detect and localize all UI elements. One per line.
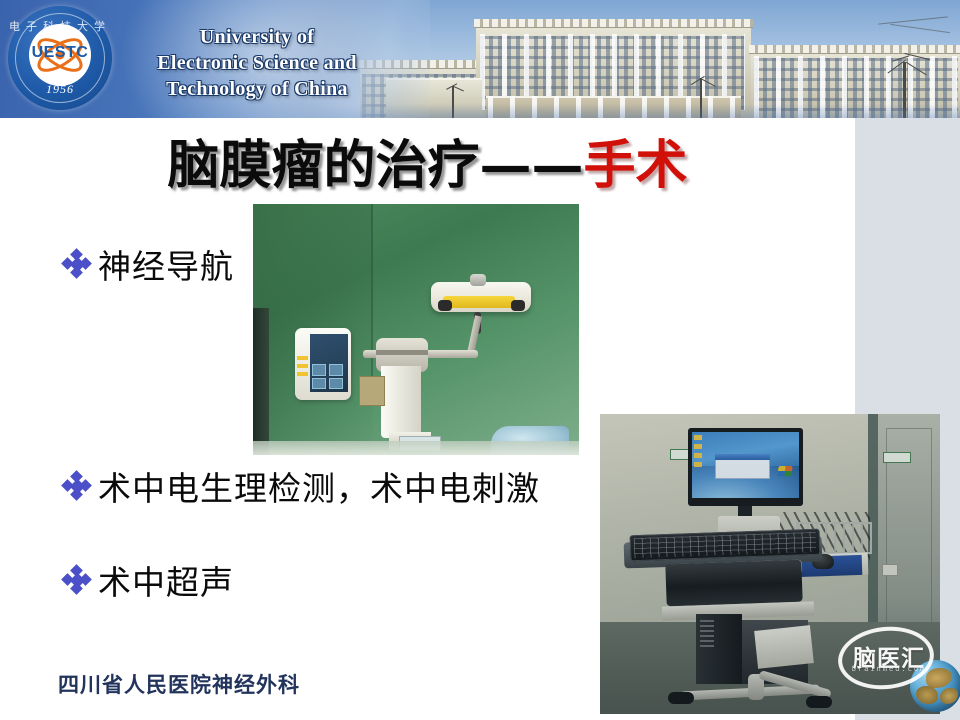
- surgical-lamp-yellow-band: [443, 296, 515, 308]
- bullet-item-1: 神经导航: [62, 240, 234, 288]
- bullet-item-3-label: 术中超声: [98, 556, 234, 604]
- page-title-accent: 手术: [584, 135, 688, 196]
- university-title-line-2: Electronic Science and: [112, 50, 402, 76]
- building-parapet-center: [474, 19, 753, 28]
- bullet-item-1-label: 神经导航: [98, 240, 234, 288]
- monitor-indicator-3: [297, 372, 308, 376]
- surgical-lamp-cap: [470, 274, 486, 286]
- watermark-sublabel: brainmed.com: [846, 665, 932, 673]
- bullet-item-3: 术中超声: [62, 556, 234, 604]
- bullet-item-2: 术中电生理检测，术中电刺激: [62, 462, 540, 510]
- or-wall-corner: [371, 204, 373, 404]
- page-title: 脑膜瘤的治疗——手术: [0, 136, 855, 196]
- monitor-indicator-2: [297, 364, 308, 368]
- surgical-lamp-end-right: [511, 300, 525, 311]
- monitor-indicator-1: [297, 356, 308, 360]
- header-banner: 电子科技大学 UESTC 1956 University of Electron…: [0, 0, 960, 118]
- uestc-seal-logo: 电子科技大学 UESTC 1956: [8, 6, 112, 110]
- bullet-item-2-label: 术中电生理检测，术中电刺激: [98, 462, 540, 510]
- or-floor: [253, 441, 579, 455]
- four-diamond-bullet-icon: [62, 471, 92, 501]
- four-diamond-bullet-icon: [62, 565, 92, 595]
- or-door-edge: [253, 308, 269, 455]
- brainmed-watermark: 脑医汇 brainmed.com: [838, 625, 960, 720]
- scan-tile-3: [312, 378, 326, 389]
- navigation-joint-band: [376, 350, 428, 355]
- wall-note-card: [359, 376, 385, 406]
- surgical-lamp-end-left: [438, 300, 452, 311]
- footer-department-label: 四川省人民医院神经外科: [58, 669, 300, 699]
- university-title-line-1: University of: [112, 24, 402, 50]
- four-diamond-bullet-icon: [62, 249, 92, 279]
- logo-founding-year: 1956: [8, 82, 112, 97]
- scan-tile-2: [329, 364, 343, 376]
- navigation-cart-column: [381, 366, 421, 438]
- page-title-main: 脑膜瘤的治疗——: [167, 135, 583, 196]
- scan-tile-1: [312, 364, 326, 376]
- logo-letters: UESTC: [29, 42, 91, 64]
- building-parapet-right: [749, 45, 960, 54]
- slide-canvas: 电子科技大学 UESTC 1956 University of Electron…: [0, 0, 960, 720]
- navigation-monitor-screen: [310, 334, 348, 392]
- university-title: University of Electronic Science and Tec…: [112, 24, 402, 102]
- university-title-line-3: Technology of China: [112, 76, 402, 102]
- scan-tile-4: [329, 378, 343, 389]
- lamp-support-arm: [467, 315, 482, 354]
- operating-room-neuronavigation-photo: [253, 204, 579, 455]
